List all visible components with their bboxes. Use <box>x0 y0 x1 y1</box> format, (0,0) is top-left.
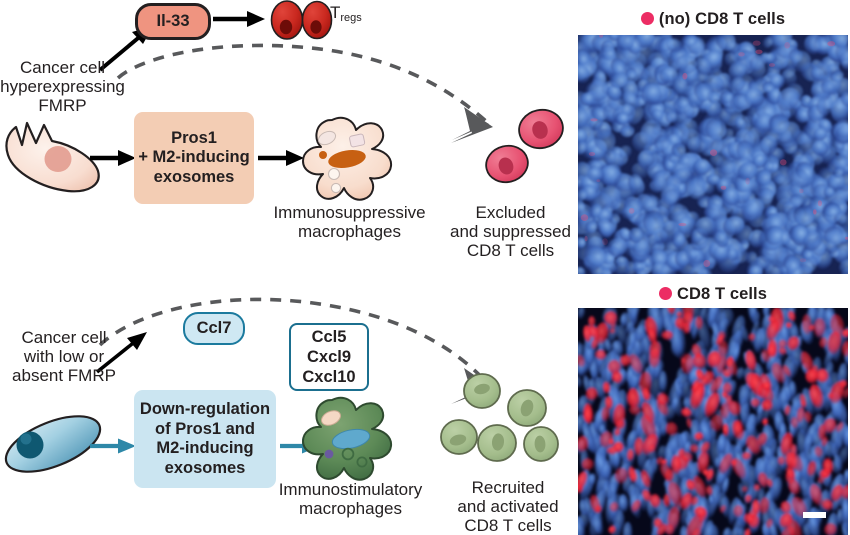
pros1-box-text: Pros1 + M2-inducing exosomes <box>138 129 249 188</box>
immunostimulatory-macrophage <box>296 392 400 488</box>
micrograph-top-caption-text: (no) CD8 T cells <box>659 10 785 28</box>
tregs-label-sub: regs <box>340 12 361 24</box>
immunosuppressive-macrophage <box>296 112 400 208</box>
micrograph-top <box>578 35 848 274</box>
micrograph-bottom-caption: CD8 T cells <box>578 285 848 304</box>
tregs-label-main: T <box>330 3 340 22</box>
excluded-cd8-label: Excluded and suppressed CD8 T cells <box>443 203 578 260</box>
tregs-label: Tregs <box>330 3 362 24</box>
ccl7-pill: Ccl7 <box>183 312 245 345</box>
micrograph-bottom-caption-text: CD8 T cells <box>677 285 767 303</box>
pros1-box: Pros1 + M2-inducing exosomes <box>134 112 254 204</box>
chemokine-box-text: Ccl5 Cxcl9 Cxcl10 <box>302 327 355 387</box>
downregulation-box: Down-regulation of Pros1 and M2-inducing… <box>134 390 276 488</box>
recruited-cd8-t-cells <box>440 368 570 478</box>
micrograph-top-caption: (no) CD8 T cells <box>578 10 848 29</box>
immunosuppressive-macrophage-label: Immunosuppressive macrophages <box>272 203 427 241</box>
excluded-cd8-t-cells <box>478 106 574 196</box>
downregulation-box-text: Down-regulation of Pros1 and M2-inducing… <box>140 400 270 478</box>
cd8-marker-dot-top <box>641 12 654 25</box>
figure-root: Il-33 Tregs Cancer cell hyperexpressing … <box>0 0 850 535</box>
immunostimulatory-macrophage-label: Immunostimulatory macrophages <box>268 480 433 518</box>
cd8-marker-dot-bottom <box>659 287 672 300</box>
il33-pill: Il-33 <box>135 3 211 40</box>
recruited-cd8-label: Recruited and activated CD8 T cells <box>438 478 578 535</box>
bottom-cancer-cell-label: Cancer cell with low or absent FMRP <box>0 328 128 385</box>
arrow-il33-to-tregs <box>213 6 273 36</box>
chemokine-box: Ccl5 Cxcl9 Cxcl10 <box>289 323 369 391</box>
ccl7-pill-label: Ccl7 <box>197 319 232 338</box>
treg-cells <box>268 0 338 46</box>
micrograph-bottom-image <box>578 308 848 535</box>
il33-pill-label: Il-33 <box>156 12 189 31</box>
micrograph-top-image <box>578 35 848 274</box>
micrograph-bottom <box>578 308 848 535</box>
scale-bar <box>803 512 826 518</box>
